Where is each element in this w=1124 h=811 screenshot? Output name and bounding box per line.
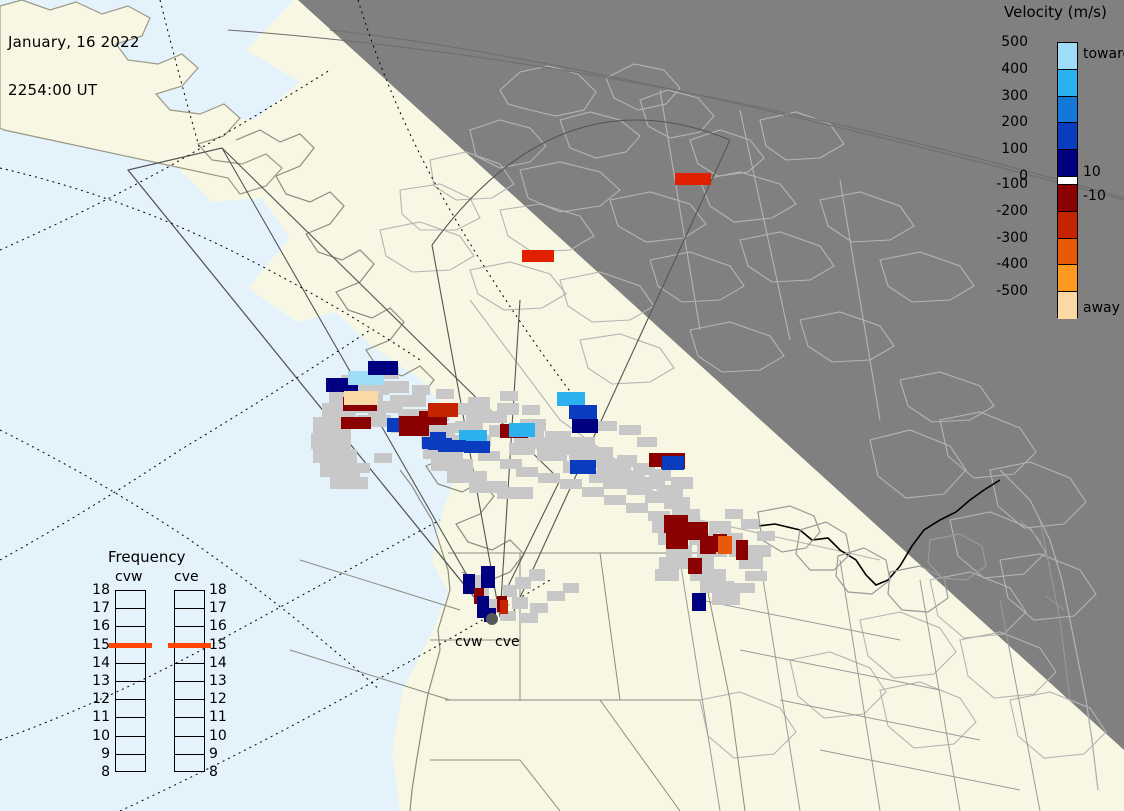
- frequency-scale-label: 12: [86, 691, 110, 707]
- velocity-colorbar-segment: [1058, 43, 1077, 70]
- velocity-cell: [500, 600, 508, 614]
- velocity-tick-label: 500: [1001, 34, 1028, 50]
- groundscatter-cell: [563, 583, 579, 593]
- velocity-cell: [666, 533, 688, 549]
- groundscatter-cell: [547, 591, 565, 601]
- groundscatter-cell: [383, 381, 409, 393]
- velocity-cell: [569, 405, 597, 419]
- velocity-colorbar: [1057, 42, 1078, 318]
- velocity-cell: [341, 417, 371, 429]
- frequency-scale-cell: [175, 664, 204, 682]
- velocity-colorbar-segment: [1058, 185, 1077, 212]
- velocity-cell: [572, 419, 598, 433]
- velocity-cell: [688, 558, 702, 574]
- velocity-legend: Velocity (m/s) 5004003002001000-100-200-…: [986, 0, 1124, 340]
- groundscatter-cell: [655, 569, 679, 581]
- frequency-scale-label: 14: [86, 655, 110, 671]
- radar-site-marker: [486, 613, 498, 625]
- velocity-colorbar-segment: [1058, 265, 1077, 292]
- groundscatter-cell: [626, 503, 648, 513]
- velocity-tick-label: -100: [996, 176, 1028, 192]
- frequency-scale-label: 15: [86, 637, 110, 653]
- frequency-scale-label: 9: [86, 746, 110, 762]
- groundscatter-cell: [725, 509, 743, 519]
- velocity-zero-upper-label: 10: [1083, 164, 1101, 180]
- groundscatter-cell: [330, 477, 368, 489]
- velocity-tick-label: 100: [1001, 141, 1028, 157]
- velocity-tick-label: 300: [1001, 88, 1028, 104]
- frequency-scale-cvw: [115, 590, 146, 772]
- site-label-cve: cve: [495, 634, 520, 650]
- frequency-scale-label: 11: [209, 709, 227, 725]
- frequency-scale-cell: [116, 646, 145, 664]
- groundscatter-cell: [712, 593, 740, 605]
- groundscatter-cell: [637, 437, 657, 447]
- groundscatter-cell: [390, 395, 408, 405]
- timestamp-time: 2254:00 UT: [8, 82, 140, 98]
- groundscatter-cell: [512, 597, 528, 609]
- velocity-cell: [428, 403, 458, 417]
- frequency-scale-cell: [116, 664, 145, 682]
- velocity-tick-label: -300: [996, 230, 1028, 246]
- frequency-scale-cell: [116, 737, 145, 755]
- velocity-cell: [570, 460, 596, 474]
- frequency-column-header-cvw: cvw: [115, 569, 142, 585]
- velocity-cell: [736, 540, 748, 560]
- frequency-scale-cell: [175, 700, 204, 718]
- frequency-legend: Frequency cvw18171615141312111098cve1817…: [88, 548, 238, 780]
- velocity-cell: [664, 515, 688, 533]
- frequency-scale-cell: [116, 682, 145, 700]
- frequency-scale-cell: [175, 682, 204, 700]
- frequency-scale-cell: [175, 646, 204, 664]
- velocity-colorbar-segment: [1058, 70, 1077, 97]
- groundscatter-cell: [500, 391, 518, 401]
- velocity-cell: [368, 361, 398, 375]
- groundscatter-cell: [582, 487, 604, 497]
- groundscatter-cell: [431, 459, 473, 471]
- frequency-scale-cell: [116, 718, 145, 736]
- velocity-away-label: away: [1083, 300, 1120, 316]
- velocity-tick-label: -200: [996, 203, 1028, 219]
- frequency-scale-label: 17: [209, 600, 227, 616]
- velocity-cell: [438, 440, 466, 452]
- frequency-marker-cvw: [109, 643, 152, 648]
- frequency-scale-label: 17: [86, 600, 110, 616]
- groundscatter-cell: [741, 519, 759, 529]
- velocity-tick-label: 400: [1001, 61, 1028, 77]
- frequency-scale-cell: [175, 591, 204, 609]
- groundscatter-cell: [745, 571, 767, 581]
- velocity-cell: [344, 391, 378, 405]
- velocity-colorbar-segment: [1058, 292, 1077, 319]
- groundscatter-cell: [604, 495, 626, 505]
- velocity-tick-label: 200: [1001, 114, 1028, 130]
- timestamp: January, 16 2022 2254:00 UT: [8, 2, 140, 130]
- frequency-scale-cell: [175, 737, 204, 755]
- groundscatter-cell: [497, 403, 519, 415]
- velocity-colorbar-segment: [1058, 123, 1077, 150]
- velocity-cell: [464, 441, 490, 453]
- velocity-cell: [718, 536, 732, 554]
- velocity-cell: [662, 456, 684, 470]
- frequency-scale-cell: [116, 755, 145, 773]
- groundscatter-cell: [529, 569, 545, 581]
- velocity-colorbar-segment: [1058, 239, 1077, 266]
- frequency-scale-cve: [174, 590, 205, 772]
- superdarn-map-view: January, 16 2022 2254:00 UT Velocity (m/…: [0, 0, 1124, 811]
- frequency-scale-label: 8: [86, 764, 110, 780]
- frequency-scale-label: 14: [209, 655, 227, 671]
- velocity-zero-lower-label: -10: [1083, 188, 1106, 204]
- groundscatter-cell: [522, 405, 540, 415]
- frequency-scale-label: 12: [209, 691, 227, 707]
- frequency-scale-cell: [116, 700, 145, 718]
- groundscatter-cell: [538, 473, 560, 483]
- frequency-scale-cell: [116, 591, 145, 609]
- velocity-cell: [399, 416, 429, 436]
- frequency-marker-cve: [168, 643, 211, 648]
- frequency-legend-title: Frequency: [108, 548, 186, 566]
- velocity-colorbar-segment: [1058, 150, 1077, 177]
- frequency-scale-cell: [175, 609, 204, 627]
- velocity-colorbar-segment: [1058, 97, 1077, 124]
- velocity-cell: [463, 574, 475, 594]
- groundscatter-cell: [330, 433, 348, 443]
- frequency-scale-cell: [175, 755, 204, 773]
- velocity-colorbar-segment: [1058, 177, 1077, 185]
- velocity-cell: [675, 173, 711, 185]
- groundscatter-cell: [545, 431, 571, 443]
- velocity-toward-label: toward: [1083, 46, 1124, 62]
- groundscatter-cell: [515, 577, 531, 589]
- frequency-scale-label: 10: [209, 728, 227, 744]
- frequency-scale-label: 13: [86, 673, 110, 689]
- frequency-scale-label: 8: [209, 764, 218, 780]
- frequency-scale-cell: [116, 609, 145, 627]
- groundscatter-cell: [374, 453, 392, 463]
- groundscatter-cell: [560, 479, 582, 489]
- velocity-cell: [481, 566, 495, 588]
- groundscatter-cell: [649, 469, 671, 481]
- groundscatter-cell: [313, 449, 357, 463]
- groundscatter-cell: [520, 613, 538, 623]
- frequency-scale-label: 18: [209, 582, 227, 598]
- groundscatter-cell: [733, 583, 755, 593]
- site-label-cvw: cvw: [455, 634, 482, 650]
- frequency-scale-label: 15: [209, 637, 227, 653]
- groundscatter-cell: [436, 389, 454, 399]
- velocity-tick-label: -400: [996, 256, 1028, 272]
- groundscatter-cell: [595, 421, 617, 431]
- velocity-cell: [557, 392, 585, 406]
- groundscatter-cell: [659, 557, 683, 569]
- groundscatter-cell: [468, 397, 490, 409]
- groundscatter-cell: [516, 467, 538, 477]
- frequency-scale-label: 9: [209, 746, 218, 762]
- velocity-cell: [692, 593, 706, 611]
- groundscatter-cell: [503, 585, 517, 597]
- frequency-scale-label: 10: [86, 728, 110, 744]
- groundscatter-cell: [709, 521, 731, 533]
- groundscatter-cell: [757, 531, 775, 541]
- groundscatter-cell: [671, 477, 693, 489]
- timestamp-date: January, 16 2022: [8, 34, 140, 50]
- groundscatter-cell: [591, 447, 613, 459]
- groundscatter-cell: [749, 545, 771, 557]
- velocity-cell: [509, 423, 535, 437]
- frequency-scale-label: 18: [86, 582, 110, 598]
- groundscatter-cell: [700, 581, 734, 593]
- velocity-cell: [522, 250, 554, 262]
- frequency-scale-label: 13: [209, 673, 227, 689]
- groundscatter-cell: [530, 603, 548, 613]
- frequency-column-header-cve: cve: [174, 569, 199, 585]
- groundscatter-cell: [412, 385, 430, 395]
- velocity-legend-title: Velocity (m/s): [1004, 3, 1107, 21]
- groundscatter-cell: [664, 497, 690, 509]
- frequency-scale-label: 16: [209, 618, 227, 634]
- frequency-scale-label: 16: [86, 618, 110, 634]
- frequency-scale-cell: [175, 718, 204, 736]
- groundscatter-cell: [619, 425, 641, 435]
- frequency-scale-label: 11: [86, 709, 110, 725]
- groundscatter-cell: [352, 463, 370, 473]
- velocity-tick-label: -500: [996, 283, 1028, 299]
- velocity-colorbar-segment: [1058, 212, 1077, 239]
- groundscatter-cell: [497, 487, 533, 499]
